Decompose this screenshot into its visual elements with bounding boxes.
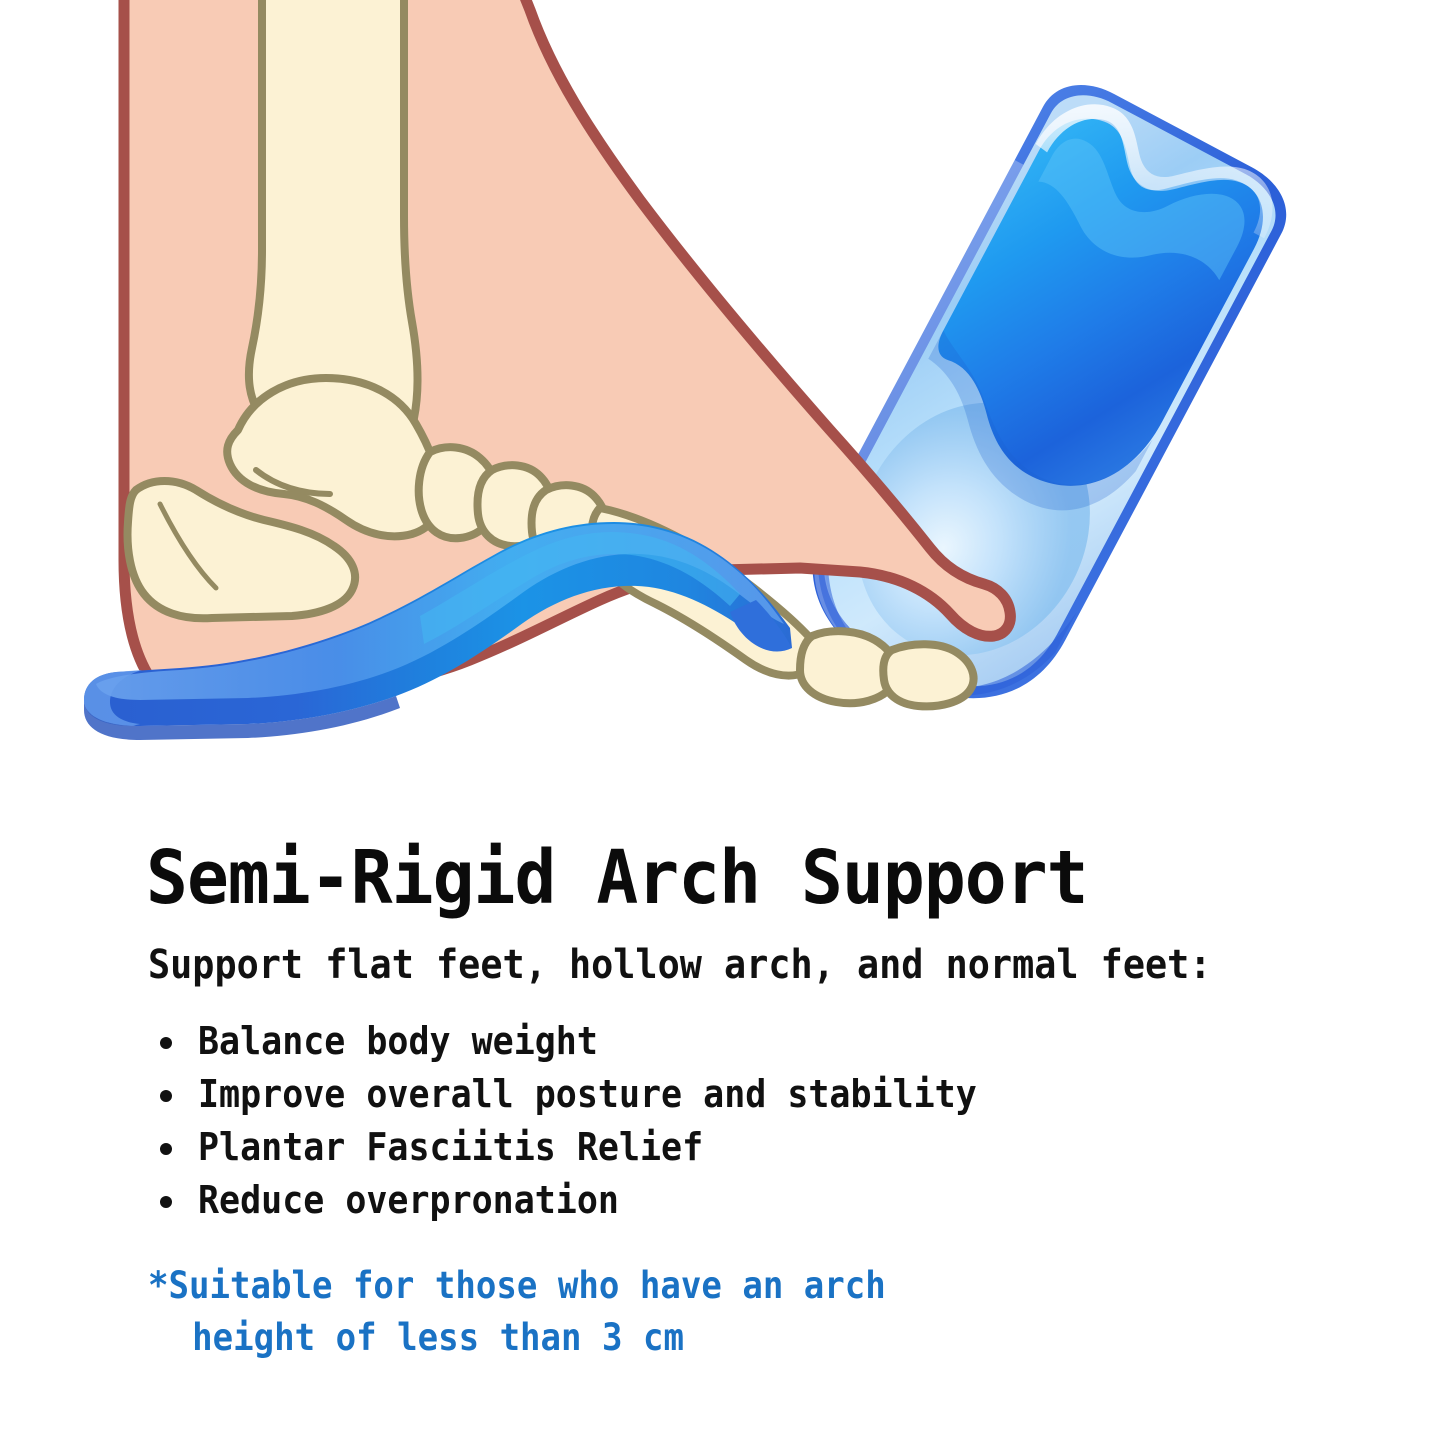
list-item-label: Plantar Fasciitis Relief <box>198 1121 703 1174</box>
list-item: Improve overall posture and stability <box>148 1068 1044 1121</box>
product-info-graphic: Semi-Rigid Arch Support Support flat fee… <box>0 0 1445 1445</box>
copy-block: Semi-Rigid Arch Support Support flat fee… <box>0 800 1445 1445</box>
foot-and-orthotic-illustration <box>0 0 1445 800</box>
page-title: Semi-Rigid Arch Support <box>146 836 1088 920</box>
footnote-line-1: *Suitable for those who have an arch <box>148 1260 886 1312</box>
benefits-list: Balance body weight Improve overall post… <box>148 1015 1044 1227</box>
subtitle: Support flat feet, hollow arch, and norm… <box>148 940 1211 990</box>
bullet-icon <box>160 1143 172 1155</box>
bullet-icon <box>160 1196 172 1208</box>
bullet-icon <box>160 1037 172 1049</box>
bullet-icon <box>160 1090 172 1102</box>
list-item-label: Improve overall posture and stability <box>198 1068 977 1121</box>
list-item: Plantar Fasciitis Relief <box>148 1121 1044 1174</box>
list-item: Balance body weight <box>148 1015 1044 1068</box>
footnote-line-2: height of less than 3 cm <box>148 1312 886 1364</box>
list-item: Reduce overpronation <box>148 1174 1044 1227</box>
list-item-label: Balance body weight <box>198 1015 598 1068</box>
list-item-label: Reduce overpronation <box>198 1174 619 1227</box>
footnote: *Suitable for those who have an arch hei… <box>148 1260 950 1364</box>
